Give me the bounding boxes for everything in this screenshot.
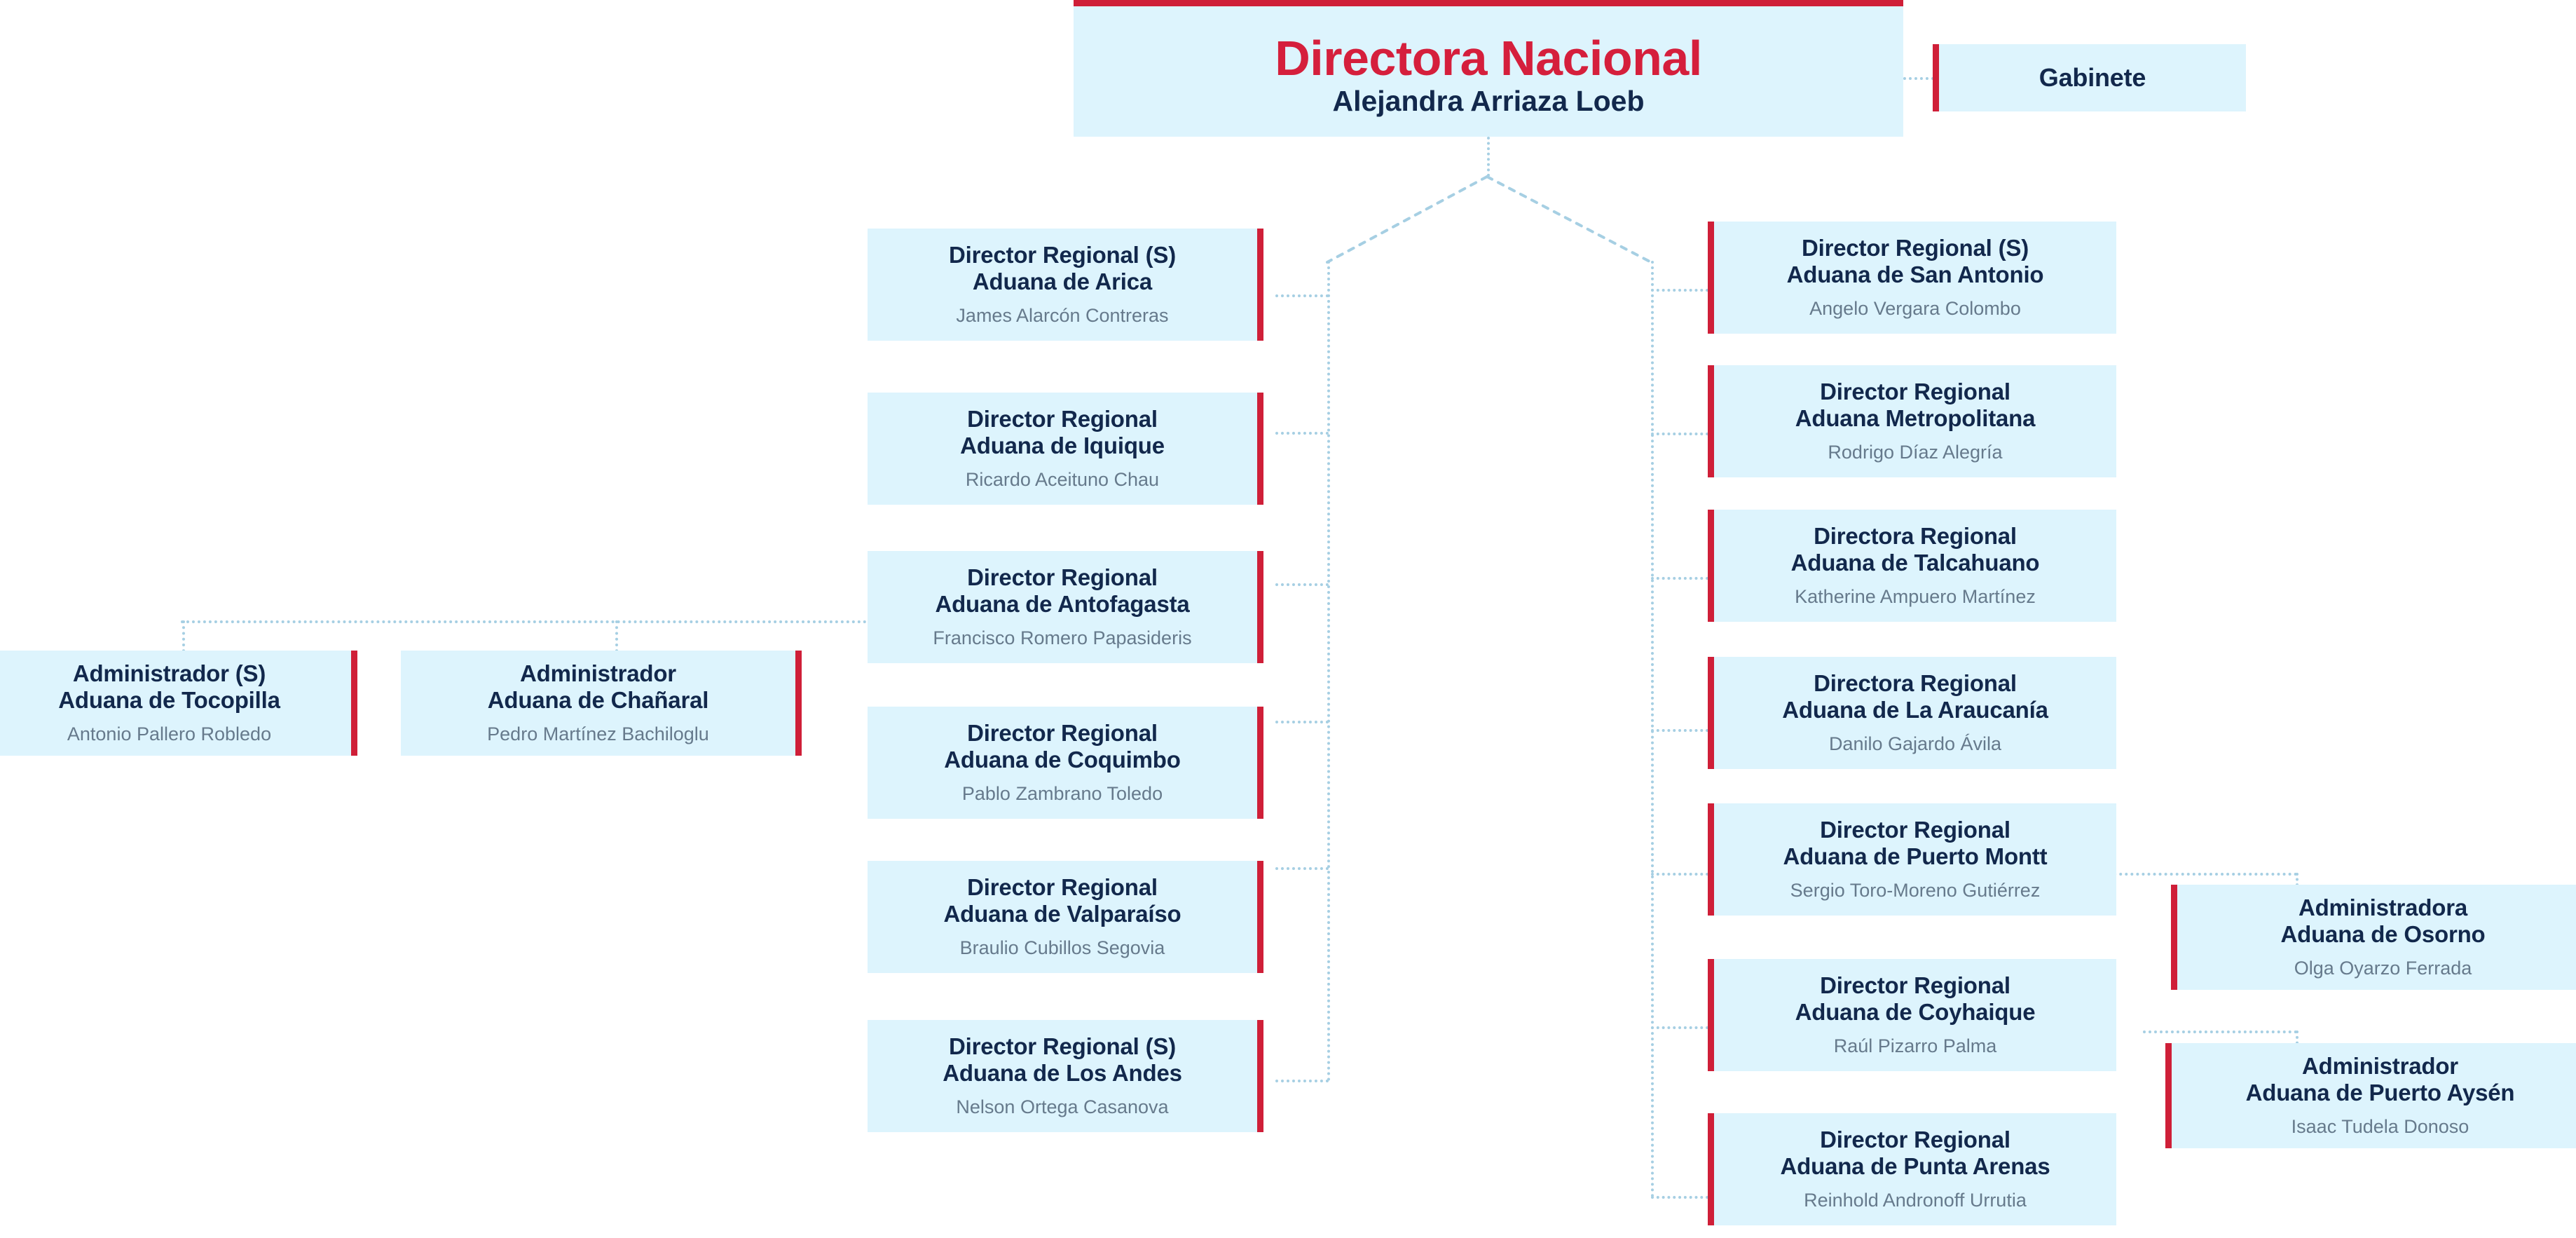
card-aduana-talcahuano[interactable]: Directora RegionalAduana de Talcahuano K… xyxy=(1708,510,2116,622)
connector-left-3 xyxy=(1275,583,1329,586)
role-label: Administrador (S)Aduana de Tocopilla xyxy=(58,660,280,713)
role-label: AdministradorAduana de Puerto Aysén xyxy=(2246,1053,2515,1106)
connector-right-6 xyxy=(1651,1026,1714,1029)
connector-left-4 xyxy=(1275,721,1329,723)
person-label: Pedro Martínez Bachiloglu xyxy=(487,723,709,745)
card-aduana-coyhaique[interactable]: Director RegionalAduana de Coyhaique Raú… xyxy=(1708,959,2116,1071)
card-aduana-la-araucania[interactable]: Directora RegionalAduana de La Araucanía… xyxy=(1708,657,2116,769)
card-aduana-valparaiso[interactable]: Director RegionalAduana de Valparaíso Br… xyxy=(868,861,1263,973)
role-label: Director Regional (S)Aduana de San Anton… xyxy=(1787,235,2044,287)
card-aduana-tocopilla[interactable]: Administrador (S)Aduana de Tocopilla Ant… xyxy=(0,651,357,756)
role-label: Directora RegionalAduana de La Araucanía xyxy=(1782,670,2048,723)
connector-left-1 xyxy=(1275,294,1329,297)
connector-right-2 xyxy=(1651,433,1714,435)
card-aduana-puerto-aysen[interactable]: AdministradorAduana de Puerto Aysén Isaa… xyxy=(2165,1043,2576,1148)
person-label: Angelo Vergara Colombo xyxy=(1809,297,2021,320)
director-nacional-title: Directora Nacional xyxy=(1275,34,1702,83)
role-label: Director RegionalAduana de Valparaíso xyxy=(944,874,1181,927)
connector-left-6 xyxy=(1275,1080,1329,1082)
connector-right-4 xyxy=(1651,729,1714,732)
role-label: AdministradoraAduana de Osorno xyxy=(2281,895,2486,947)
card-aduana-punta-arenas[interactable]: Director RegionalAduana de Punta Arenas … xyxy=(1708,1113,2116,1225)
connector-fan xyxy=(1324,174,1654,265)
person-label: Francisco Romero Papasideris xyxy=(933,627,1191,649)
person-label: Sergio Toro-Moreno Gutiérrez xyxy=(1790,879,2041,902)
role-label: Director RegionalAduana de Puerto Montt xyxy=(1783,817,2048,869)
person-label: Pablo Zambrano Toledo xyxy=(962,782,1163,805)
person-label: Reinhold Andronoff Urrutia xyxy=(1804,1189,2027,1211)
role-label: Directora RegionalAduana de Talcahuano xyxy=(1791,523,2040,576)
gabinete-card[interactable]: Gabinete xyxy=(1933,44,2246,111)
role-label: AdministradorAduana de Chañaral xyxy=(488,660,708,713)
person-label: Olga Oyarzo Ferrada xyxy=(2294,957,2472,979)
role-label: Director RegionalAduana de Antofagasta xyxy=(935,564,1189,617)
role-label: Director RegionalAduana de Coyhaique xyxy=(1795,972,2036,1025)
role-label: Director Regional (S)Aduana de Los Andes xyxy=(943,1033,1182,1086)
card-aduana-chanaral[interactable]: AdministradorAduana de Chañaral Pedro Ma… xyxy=(401,651,802,756)
role-label: Director Regional (S)Aduana de Arica xyxy=(949,242,1176,294)
gabinete-label: Gabinete xyxy=(2039,63,2146,92)
director-nacional-card[interactable]: Directora Nacional Alejandra Arriaza Loe… xyxy=(1074,0,1903,137)
person-label: Rodrigo Díaz Alegría xyxy=(1828,441,2002,463)
role-label: Director RegionalAduana Metropolitana xyxy=(1795,379,2036,431)
person-label: Katherine Ampuero Martínez xyxy=(1795,585,2036,608)
connector-left-spine xyxy=(1327,261,1330,1082)
connector-left-5 xyxy=(1275,867,1329,870)
connector-aysen-bus xyxy=(2143,1030,2297,1033)
person-label: James Alarcón Contreras xyxy=(956,304,1168,327)
connector-right-7 xyxy=(1651,1196,1714,1199)
person-label: Nelson Ortega Casanova xyxy=(956,1096,1168,1118)
connector-right-3 xyxy=(1651,577,1714,580)
person-label: Ricardo Aceituno Chau xyxy=(966,468,1159,491)
person-label: Braulio Cubillos Segovia xyxy=(960,937,1165,959)
person-label: Antonio Pallero Robledo xyxy=(67,723,271,745)
person-label: Raúl Pizarro Palma xyxy=(1834,1035,1997,1057)
person-label: Isaac Tudela Donoso xyxy=(2291,1115,2469,1138)
card-aduana-los-andes[interactable]: Director Regional (S)Aduana de Los Andes… xyxy=(868,1020,1263,1132)
card-aduana-osorno[interactable]: AdministradoraAduana de Osorno Olga Oyar… xyxy=(2171,885,2576,990)
role-label: Director RegionalAduana de Coquimbo xyxy=(944,720,1180,773)
connector-right-5 xyxy=(1651,873,1714,876)
person-label: Danilo Gajardo Ávila xyxy=(1829,733,2001,755)
connector-right-1 xyxy=(1651,289,1714,292)
connector-osorno-bus xyxy=(2091,873,2297,876)
role-label: Director RegionalAduana de Iquique xyxy=(960,406,1165,458)
director-nacional-name: Alejandra Arriaza Loeb xyxy=(1332,87,1644,116)
connector-root-stub xyxy=(1487,137,1490,177)
card-aduana-coquimbo[interactable]: Director RegionalAduana de Coquimbo Pabl… xyxy=(868,707,1263,819)
card-aduana-iquique[interactable]: Director RegionalAduana de Iquique Ricar… xyxy=(868,393,1263,505)
connector-left-2 xyxy=(1275,432,1329,435)
card-aduana-san-antonio[interactable]: Director Regional (S)Aduana de San Anton… xyxy=(1708,222,2116,334)
card-aduana-puerto-montt[interactable]: Director RegionalAduana de Puerto Montt … xyxy=(1708,803,2116,916)
role-label: Director RegionalAduana de Punta Arenas xyxy=(1781,1127,2050,1179)
card-aduana-arica[interactable]: Director Regional (S)Aduana de Arica Jam… xyxy=(868,229,1263,341)
card-aduana-metropolitana[interactable]: Director RegionalAduana Metropolitana Ro… xyxy=(1708,365,2116,477)
org-chart-canvas: Directora Nacional Alejandra Arriaza Loe… xyxy=(0,0,2576,1238)
card-aduana-antofagasta[interactable]: Director RegionalAduana de Antofagasta F… xyxy=(868,551,1263,663)
connector-farleft-bus xyxy=(181,620,878,623)
